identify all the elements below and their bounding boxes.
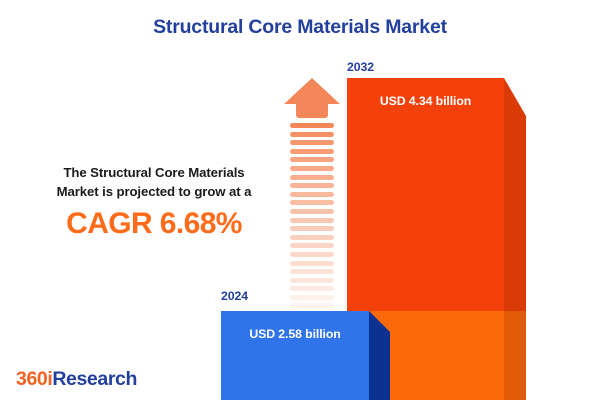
bar-2024-front-face xyxy=(221,311,369,400)
bar-chart-area: 2032 USD 4.34 billion 2024 USD 2.58 bill… xyxy=(0,0,600,400)
bar-year-label-2024: 2024 xyxy=(221,289,248,303)
bar-2032-value-label: USD 4.34 billion xyxy=(347,94,504,108)
bar-2024-side-face xyxy=(369,332,390,400)
bar-2024-value-label: USD 2.58 billion xyxy=(221,327,369,341)
bar-2032-side-face-lower xyxy=(504,311,526,400)
bar-2032-side-face xyxy=(504,116,526,311)
bar-2024-side-top-bevel xyxy=(369,311,390,332)
infographic-canvas: Structural Core Materials Market The Str… xyxy=(0,0,600,400)
bar-2032-side-top-bevel xyxy=(504,78,526,116)
bar-year-label-2032: 2032 xyxy=(347,60,374,74)
